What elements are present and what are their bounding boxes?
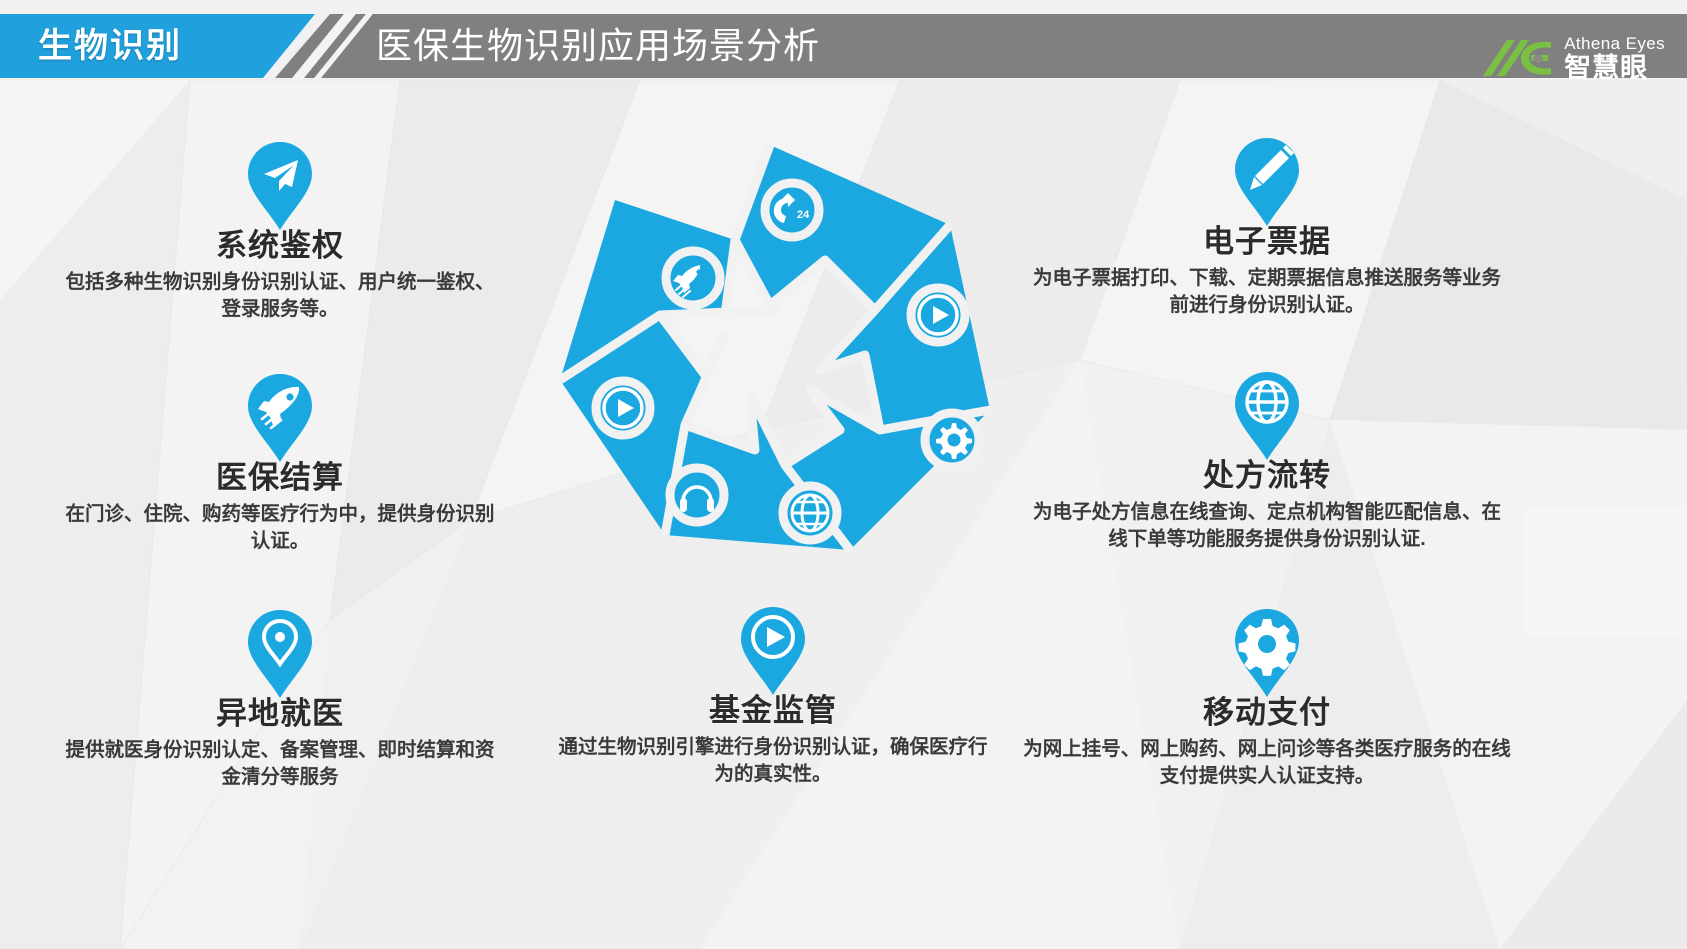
feature-title: 医保结算 bbox=[60, 460, 500, 496]
rocket-icon bbox=[244, 372, 316, 464]
feature-item-settle: 医保结算 在门诊、住院、购药等医疗行为中，提供身份识别认证。 bbox=[60, 372, 500, 554]
paper-plane-icon bbox=[244, 140, 316, 232]
globe-icon bbox=[1231, 370, 1303, 462]
badge-gear-right bbox=[925, 413, 979, 467]
feature-description: 通过生物识别引擎进行身份识别认证，确保医疗行为的真实性。 bbox=[558, 734, 988, 788]
svg-text:24: 24 bbox=[797, 209, 810, 221]
page-title: 医保生物识别应用场景分析 bbox=[376, 14, 820, 78]
feature-title: 电子票据 bbox=[1032, 224, 1502, 260]
logo-english-name: Athena Eyes bbox=[1564, 35, 1665, 52]
header-tag-label: 生物识别 bbox=[38, 14, 182, 78]
feature-item-fund: 基金监管 通过生物识别引擎进行身份识别认证，确保医疗行为的真实性。 bbox=[558, 605, 988, 787]
hexagon-shutter-diagram: 24 bbox=[520, 120, 1020, 590]
gear-icon bbox=[1231, 607, 1303, 699]
feature-title: 基金监管 bbox=[558, 693, 988, 729]
feature-description: 为电子处方信息在线查询、定点机构智能匹配信息、在线下单等功能服务提供身份识别认证… bbox=[1032, 499, 1502, 553]
pencil-icon bbox=[1231, 136, 1303, 228]
feature-item-ebill: 电子票据 为电子票据打印、下载、定期票据信息推送服务等业务前进行身份识别认证。 bbox=[1032, 136, 1502, 318]
feature-title: 移动支付 bbox=[1022, 695, 1512, 731]
brand-logo: Athena Eyes 智慧眼 bbox=[1481, 32, 1665, 84]
badge-phone-24h: 24 bbox=[765, 183, 819, 237]
badge-globe-bottom bbox=[783, 486, 837, 540]
slide-header: 生物识别 医保生物识别应用场景分析 Athena Eyes 智慧眼 bbox=[0, 14, 1687, 78]
feature-item-rx: 处方流转 为电子处方信息在线查询、定点机构智能匹配信息、在线下单等功能服务提供身… bbox=[1032, 370, 1502, 552]
feature-description: 包括多种生物识别身份识别认证、用户统一鉴权、登录服务等。 bbox=[60, 269, 500, 323]
athena-eyes-logo-mark bbox=[1481, 36, 1555, 80]
location-pin-icon bbox=[244, 608, 316, 700]
feature-description: 为网上挂号、网上购药、网上问诊等各类医疗服务的在线支付提供实人认证支持。 bbox=[1022, 736, 1512, 790]
feature-item-sysauth: 系统鉴权 包括多种生物识别身份识别认证、用户统一鉴权、登录服务等。 bbox=[60, 140, 500, 322]
play-circle-icon bbox=[737, 605, 809, 697]
feature-title: 系统鉴权 bbox=[60, 228, 500, 264]
feature-title: 异地就医 bbox=[60, 696, 500, 732]
feature-description: 提供就医身份识别认定、备案管理、即时结算和资金清分等服务 bbox=[60, 737, 500, 791]
feature-title: 处方流转 bbox=[1032, 458, 1502, 494]
feature-item-mpay: 移动支付 为网上挂号、网上购药、网上问诊等各类医疗服务的在线支付提供实人认证支持… bbox=[1022, 607, 1512, 789]
badge-headphones-lower-left bbox=[670, 468, 724, 522]
logo-chinese-name: 智慧眼 bbox=[1564, 55, 1665, 82]
badge-rocket-upper-left bbox=[666, 251, 720, 305]
feature-description: 为电子票据打印、下载、定期票据信息推送服务等业务前进行身份识别认证。 bbox=[1032, 265, 1502, 319]
badge-play-upper-right bbox=[911, 288, 965, 342]
feature-description: 在门诊、住院、购药等医疗行为中，提供身份识别认证。 bbox=[60, 501, 500, 555]
badge-play-left bbox=[596, 381, 650, 435]
slide-canvas: 生物识别 医保生物识别应用场景分析 Athena Eyes 智慧眼 bbox=[0, 0, 1687, 949]
feature-item-remote: 异地就医 提供就医身份识别认定、备案管理、即时结算和资金清分等服务 bbox=[60, 608, 500, 790]
